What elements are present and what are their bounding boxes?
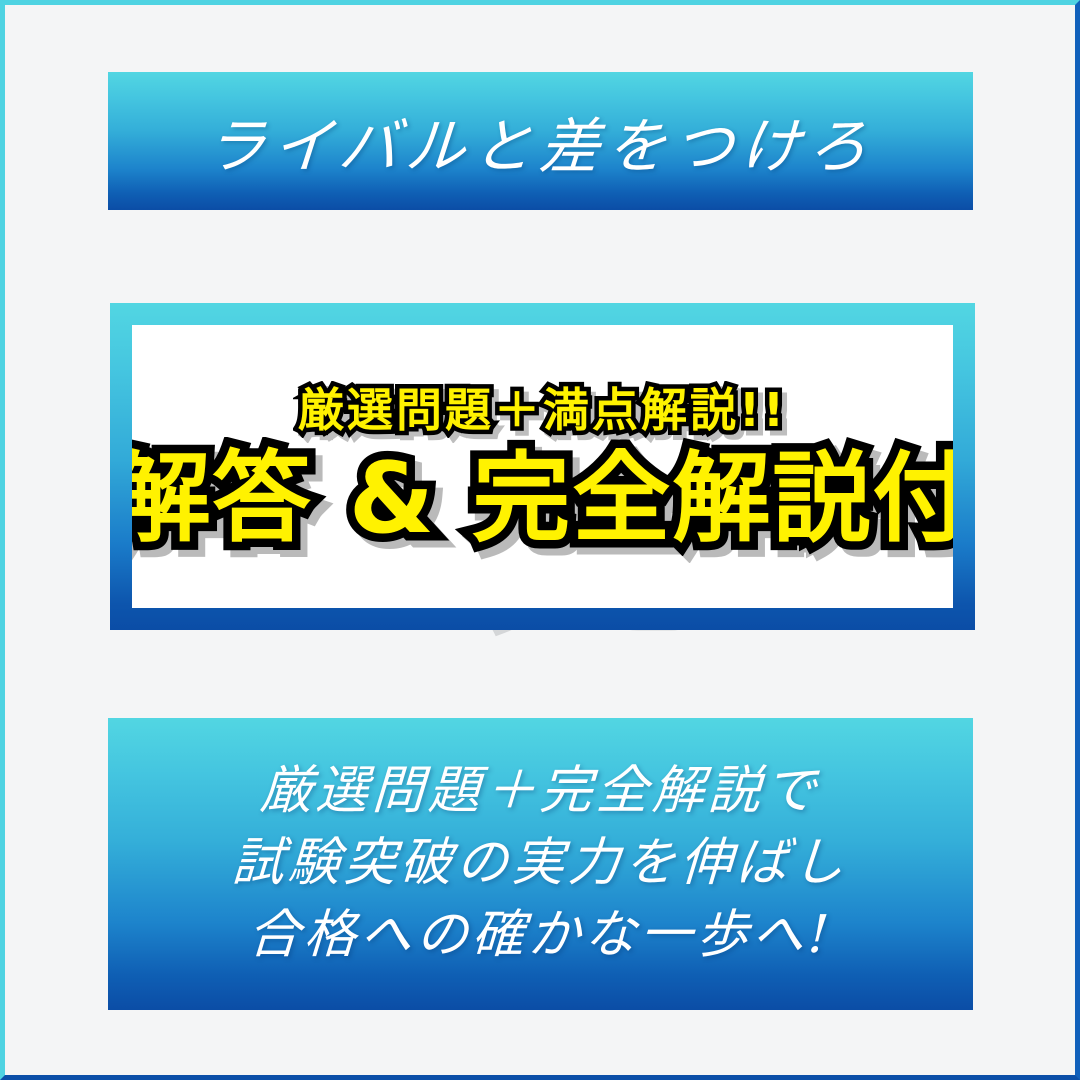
promo-page: BR先生 ライバルと差をつけろ 厳選問題＋満点解説!! 解答 & 完全解説付 厳…: [0, 0, 1080, 1080]
bottom-message-line-3: 合格への確かな一歩へ!: [246, 900, 835, 972]
headline-subtitle: 厳選問題＋満点解説!!: [298, 386, 787, 434]
page-canvas: BR先生 ライバルと差をつけろ 厳選問題＋満点解説!! 解答 & 完全解説付 厳…: [5, 5, 1075, 1075]
highlight-card: 厳選問題＋満点解説!! 解答 & 完全解説付: [110, 303, 975, 630]
bottom-message-line-2: 試験突破の実力を伸ばし: [231, 828, 851, 900]
bottom-message-panel: 厳選問題＋完全解説で 試験突破の実力を伸ばし 合格への確かな一歩へ!: [108, 718, 973, 1010]
top-banner-text: ライバルと差をつけろ: [203, 98, 878, 185]
bottom-message-line-1: 厳選問題＋完全解説で: [259, 756, 823, 828]
top-banner: ライバルと差をつけろ: [108, 72, 973, 210]
highlight-card-inner: 厳選問題＋満点解説!! 解答 & 完全解説付: [132, 325, 953, 608]
headline-main: 解答 & 完全解説付: [132, 448, 953, 551]
